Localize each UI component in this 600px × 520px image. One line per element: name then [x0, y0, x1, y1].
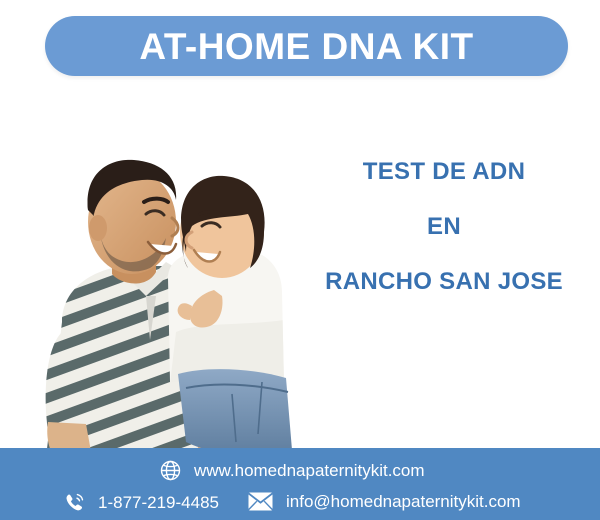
globe-icon	[160, 460, 181, 481]
envelope-icon	[248, 492, 273, 511]
family-photo-illustration	[0, 82, 320, 457]
footer-phone-label: 1-877-219-4485	[98, 494, 219, 511]
headline-block: TEST DE ADN EN RANCHO SAN JOSE	[300, 160, 588, 294]
phone-icon	[64, 492, 85, 513]
headline-line-1: TEST DE ADN	[300, 160, 588, 184]
header-banner: AT-HOME DNA KIT	[45, 16, 568, 76]
footer-contact-bar: www.homednapaternitykit.com 1-877-219-44…	[0, 448, 600, 520]
footer-phone[interactable]: 1-877-219-4485	[64, 492, 219, 513]
footer-email-label: info@homednapaternitykit.com	[286, 493, 521, 510]
poster-canvas: AT-HOME DNA KIT	[0, 0, 600, 520]
family-photo	[0, 82, 320, 457]
footer-email[interactable]: info@homednapaternitykit.com	[248, 492, 521, 511]
headline-line-2: EN	[300, 215, 588, 239]
footer-website-label: www.homednapaternitykit.com	[194, 462, 425, 479]
headline-line-3: RANCHO SAN JOSE	[300, 270, 588, 294]
footer-website[interactable]: www.homednapaternitykit.com	[160, 460, 425, 481]
page-title: AT-HOME DNA KIT	[139, 28, 473, 65]
